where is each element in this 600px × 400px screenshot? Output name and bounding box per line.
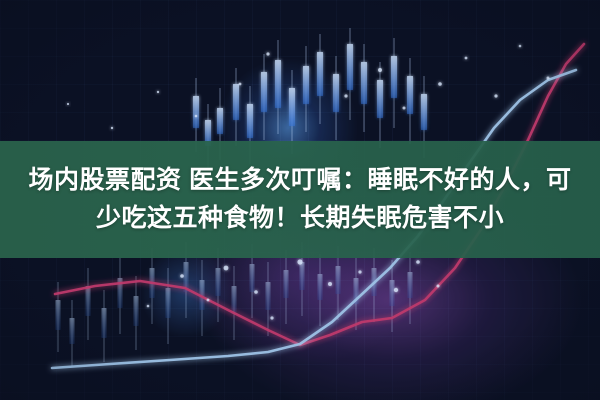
stock-banner-image: 场内股票配资 医生多次叮嘱：睡眠不好的人，可 少吃这五种食物！长期失眠危害不小 [0, 0, 600, 400]
headline-text-block: 场内股票配资 医生多次叮嘱：睡眠不好的人，可 少吃这五种食物！长期失眠危害不小 [0, 141, 600, 258]
headline-line-2: 少吃这五种食物！长期失眠危害不小 [88, 203, 512, 234]
headline-line-1: 场内股票配资 医生多次叮嘱：睡眠不好的人，可 [21, 165, 580, 196]
